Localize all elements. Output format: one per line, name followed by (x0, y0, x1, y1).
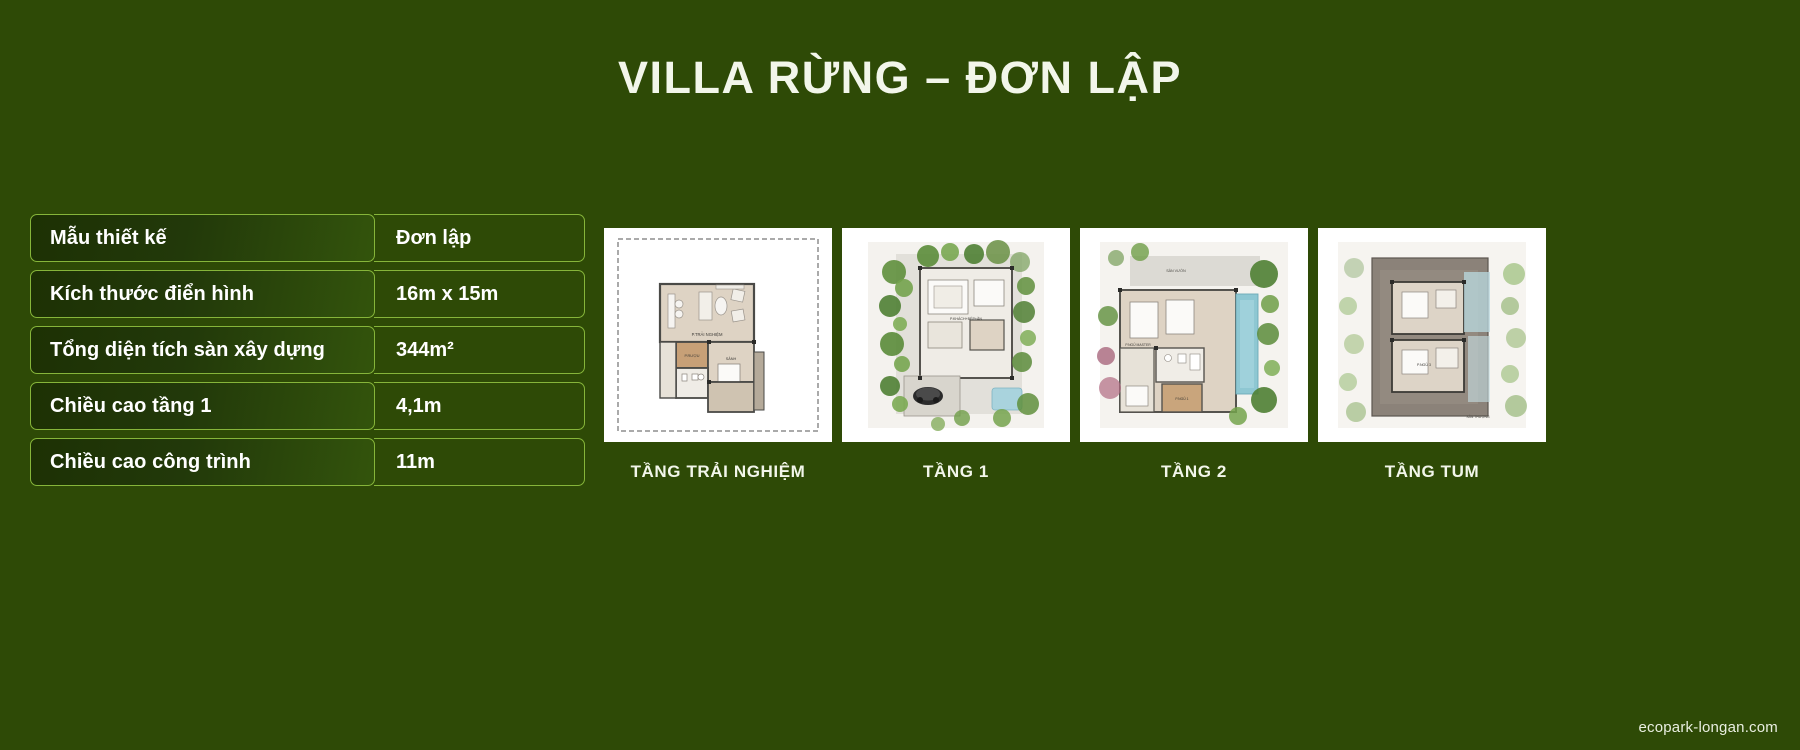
floor-plan-caption: TẦNG TRẢI NGHIỆM (604, 462, 832, 482)
spec-value: Đơn lập (374, 214, 585, 262)
svg-text:P.RƯỢU: P.RƯỢU (684, 354, 699, 358)
floor-plan-card[interactable]: P.KHÁCH+BẾP+ĂN (842, 228, 1070, 482)
floor-plan-gallery: P.TRẢI NGHIỆM P.RƯỢU SẢNH (604, 228, 1546, 482)
spec-value: 4,1m (374, 382, 585, 430)
floor-plan-drawing: P.TRẢI NGHIỆM P.RƯỢU SẢNH (604, 228, 832, 442)
svg-text:SÂN VƯỜN: SÂN VƯỜN (1166, 268, 1186, 273)
svg-text:P.NGỦ 3: P.NGỦ 3 (1417, 362, 1431, 367)
floor-plan-image-floor1[interactable]: P.KHÁCH+BẾP+ĂN (842, 228, 1070, 442)
spec-label: Chiều cao tầng 1 (30, 382, 375, 430)
page-title: VILLA RỪNG – ĐƠN LẬP (0, 52, 1800, 104)
spec-value: 16m x 15m (374, 270, 585, 318)
spec-label: Kích thước điển hình (30, 270, 375, 318)
table-row: Kích thước điển hình 16m x 15m (30, 270, 585, 318)
table-row: Chiều cao công trình 11m (30, 438, 585, 486)
spec-label: Mẫu thiết kế (30, 214, 375, 262)
spec-value: 11m (374, 438, 585, 486)
site-watermark: ecopark-longan.com (1638, 719, 1778, 736)
svg-text:P.NGỦ 1: P.NGỦ 1 (1175, 396, 1188, 401)
spec-value: 344m² (374, 326, 585, 374)
floor-plan-image-floor2[interactable]: SÂN VƯỜN P.NGỦ MASTER P.NGỦ 1 (1080, 228, 1308, 442)
floor-plan-card[interactable]: P.NGỦ 3 SÂN THƯỢNG (1318, 228, 1546, 482)
floor-plan-caption: TẦNG TUM (1318, 462, 1546, 482)
floor-plan-card[interactable]: SÂN VƯỜN P.NGỦ MASTER P.NGỦ 1 (1080, 228, 1308, 482)
villa-spec-page: VILLA RỪNG – ĐƠN LẬP Mẫu thiết kế Đơn lậ… (0, 0, 1800, 750)
svg-text:P.NGỦ MASTER: P.NGỦ MASTER (1125, 342, 1151, 347)
table-row: Tổng diện tích sàn xây dựng 344m² (30, 326, 585, 374)
floor-plan-drawing: P.KHÁCH+BẾP+ĂN (842, 228, 1070, 442)
svg-text:SẢNH: SẢNH (726, 356, 737, 361)
floor-plan-caption: TẦNG 2 (1080, 462, 1308, 482)
floor-plan-image-experience[interactable]: P.TRẢI NGHIỆM P.RƯỢU SẢNH (604, 228, 832, 442)
svg-text:P.TRẢI NGHIỆM: P.TRẢI NGHIỆM (692, 332, 723, 337)
spec-table: Mẫu thiết kế Đơn lập Kích thước điển hìn… (30, 214, 585, 494)
floor-plan-card[interactable]: P.TRẢI NGHIỆM P.RƯỢU SẢNH (604, 228, 832, 482)
floor-plan-image-attic[interactable]: P.NGỦ 3 SÂN THƯỢNG (1318, 228, 1546, 442)
spec-label: Chiều cao công trình (30, 438, 375, 486)
table-row: Mẫu thiết kế Đơn lập (30, 214, 585, 262)
floor-plan-drawing: P.NGỦ 3 SÂN THƯỢNG (1318, 228, 1546, 442)
floor-plan-caption: TẦNG 1 (842, 462, 1070, 482)
svg-text:P.KHÁCH+BẾP+ĂN: P.KHÁCH+BẾP+ĂN (950, 316, 982, 321)
spec-label: Tổng diện tích sàn xây dựng (30, 326, 375, 374)
svg-text:SÂN THƯỢNG: SÂN THƯỢNG (1466, 415, 1490, 419)
table-row: Chiều cao tầng 1 4,1m (30, 382, 585, 430)
floor-plan-drawing: SÂN VƯỜN P.NGỦ MASTER P.NGỦ 1 (1080, 228, 1308, 442)
